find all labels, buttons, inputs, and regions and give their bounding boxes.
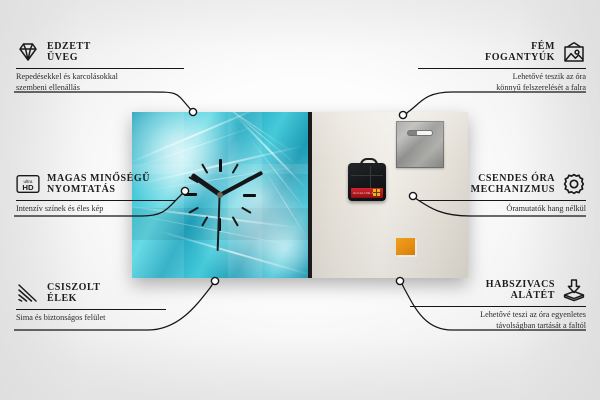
connector-dot-foam [396,277,403,284]
battery-plus-terminal [373,189,380,196]
callout-metal-handles: FÉM FOGANTYÚK Lehetővé teszik az óra kön… [418,40,586,93]
metal-hanger-plate [396,121,444,168]
callout-description: Óramutatók hang nélkül [418,204,586,214]
mechanism-seam-vertical [370,166,371,188]
callout-tempered-glass: EDZETT ÜVEG Repedésekkel és karcolásokka… [16,40,184,93]
callout-rule [418,68,586,69]
callout-polished-edges: CSISZOLT ÉLEK Sima és biztonságos felüle… [16,281,166,324]
battery-label: ALKALINE AA [353,191,376,195]
battery: ALKALINE AA [351,188,383,198]
callout-rule [16,68,184,69]
callout-rule [16,200,176,201]
callout-foam-pad: HABSZIVACS ALÁTÉT Lehetővé teszi az óra … [410,278,586,331]
callout-rule [410,306,586,307]
infographic-canvas: ALKALINE AA [0,0,600,400]
foam-pad-sample [396,238,415,255]
callout-description: Intenzív színek és éles kép [16,204,176,214]
svg-text:HD: HD [22,183,34,192]
mechanism-seam [351,175,383,176]
foam-pad-arrow-icon [562,278,586,302]
callout-title: HABSZIVACS ALÁTÉT [486,279,555,302]
callout-silent-mechanism: CSENDES ÓRA MECHANIZMUS Óramutatók hang … [418,172,586,215]
polished-edges-icon [16,281,40,305]
mechanism-loop [360,158,378,168]
ultra-hd-badge-icon: ultra HD [16,172,40,196]
clock-center-cap [217,192,223,198]
callout-description: Sima és biztonságos felület [16,313,166,323]
callout-title: CSENDES ÓRA MECHANIZMUS [471,173,555,196]
picture-hanger-icon [562,40,586,64]
callout-description: Repedésekkel és karcolásokkal szembeni e… [16,72,184,92]
callout-rule [418,200,586,201]
callout-description: Lehetővé teszik az óra könnyű felszerelé… [418,72,586,92]
clock-mechanism-box: ALKALINE AA [348,163,386,201]
gear-icon [562,172,586,196]
callout-title: MAGAS MINŐSÉGŰ NYOMTATÁS [47,173,150,196]
callout-title: CSISZOLT ÉLEK [47,282,101,305]
callout-high-quality-print: ultra HD MAGAS MINŐSÉGŰ NYOMTATÁS Intenz… [16,172,176,215]
callout-title: FÉM FOGANTYÚK [485,41,555,64]
hanger-slot [407,130,433,136]
callout-rule [16,309,166,310]
callout-description: Lehetővé teszi az óra egyenletes távolsá… [410,310,586,330]
diamond-icon [16,40,40,64]
callout-title: EDZETT ÜVEG [47,41,91,64]
connector-dot-edges [211,277,218,284]
